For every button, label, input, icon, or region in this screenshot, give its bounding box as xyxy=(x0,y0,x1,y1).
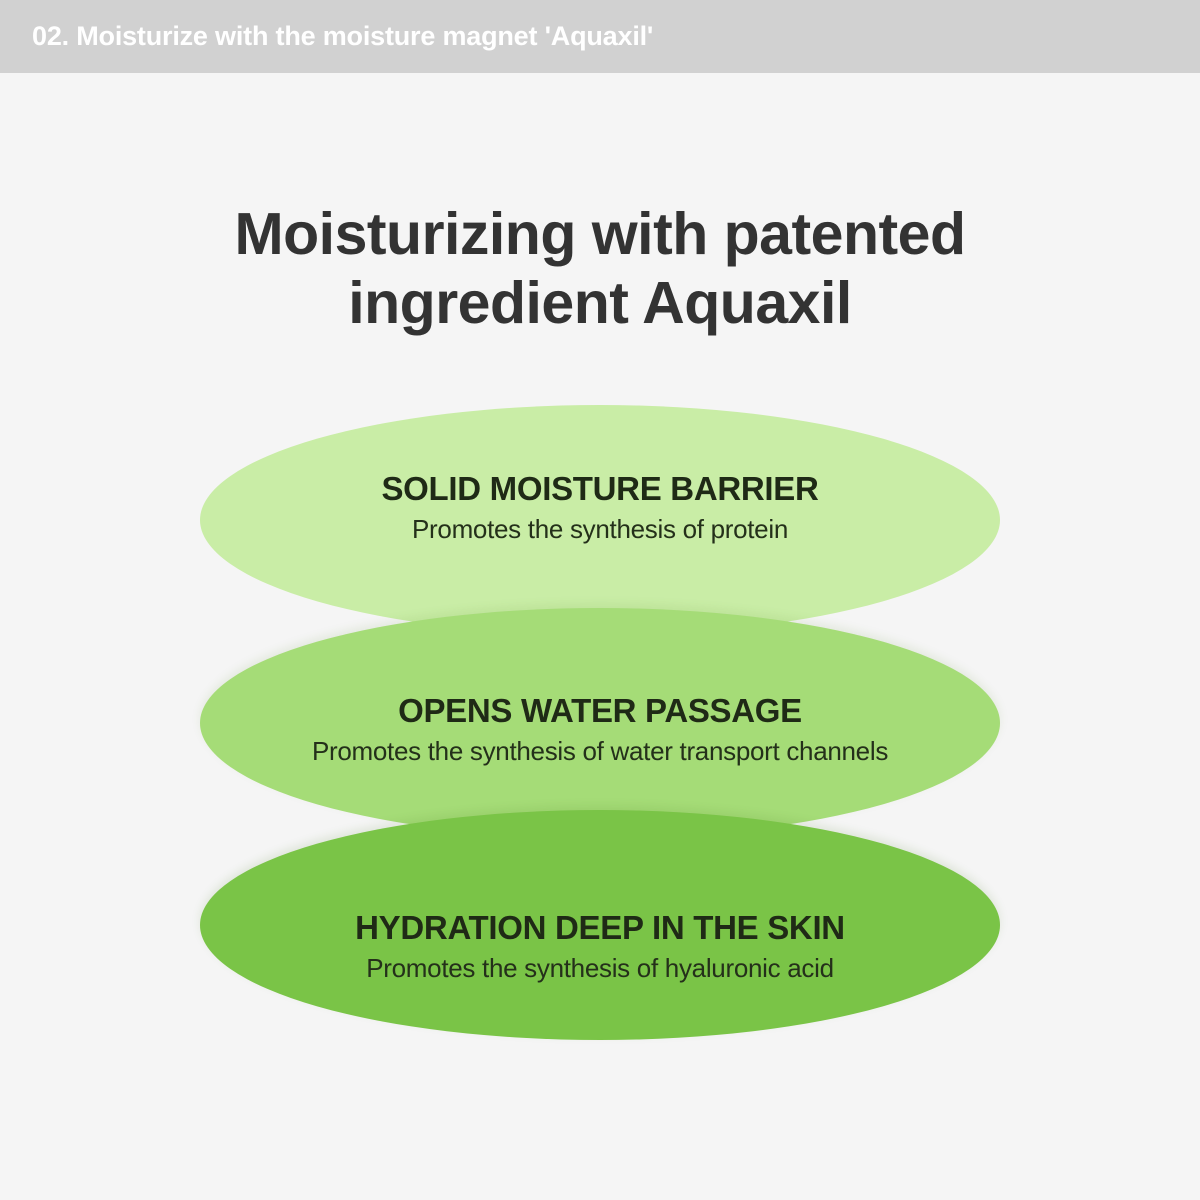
benefit-subtitle-3: Promotes the synthesis of hyaluronic aci… xyxy=(366,953,834,984)
benefit-headline-2: OPENS WATER PASSAGE xyxy=(398,693,802,729)
page-title-line-2: ingredient Aquaxil xyxy=(0,269,1200,338)
benefit-ellipse-layer-2: OPENS WATER PASSAGE Promotes the synthes… xyxy=(200,608,1000,838)
benefit-text-group-1: SOLID MOISTURE BARRIER Promotes the synt… xyxy=(381,471,818,544)
benefit-ellipse-layer-1: SOLID MOISTURE BARRIER Promotes the synt… xyxy=(200,405,1000,635)
benefit-subtitle-2: Promotes the synthesis of water transpor… xyxy=(312,736,888,767)
benefit-ellipse-stack: SOLID MOISTURE BARRIER Promotes the synt… xyxy=(200,405,1000,1040)
benefit-ellipse-layer-3: HYDRATION DEEP IN THE SKIN Promotes the … xyxy=(200,810,1000,1040)
page-title: Moisturizing with patented ingredient Aq… xyxy=(0,200,1200,338)
benefit-headline-1: SOLID MOISTURE BARRIER xyxy=(381,471,818,507)
benefit-text-group-2: OPENS WATER PASSAGE Promotes the synthes… xyxy=(312,693,888,766)
benefit-headline-3: HYDRATION DEEP IN THE SKIN xyxy=(355,910,845,946)
section-header-label: 02. Moisturize with the moisture magnet … xyxy=(32,21,653,52)
section-header-bar: 02. Moisturize with the moisture magnet … xyxy=(0,0,1200,73)
page-title-line-1: Moisturizing with patented xyxy=(0,200,1200,269)
benefit-text-group-3: HYDRATION DEEP IN THE SKIN Promotes the … xyxy=(355,910,845,983)
benefit-subtitle-1: Promotes the synthesis of protein xyxy=(412,514,788,545)
